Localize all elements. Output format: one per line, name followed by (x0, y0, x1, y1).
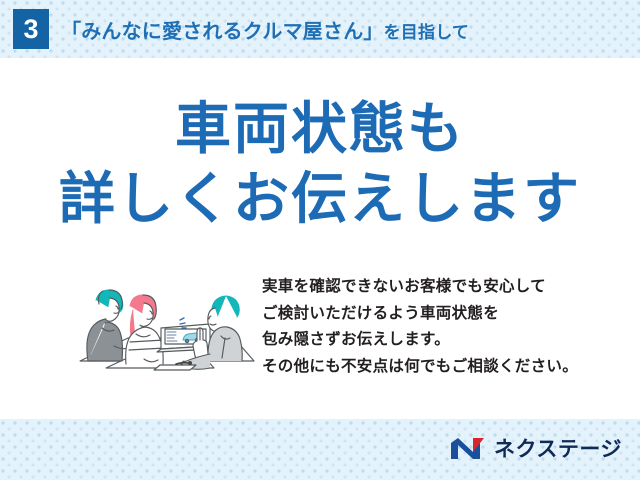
consultation-illustration (58, 266, 258, 384)
slide-header: 3 「みんなに愛されるクルマ屋さん」を目指して (0, 0, 640, 58)
slide-root: 3 「みんなに愛されるクルマ屋さん」を目指して 車両状態も 詳しくお伝えします (0, 0, 640, 480)
nexstage-logo: ネクステージ (449, 433, 622, 463)
headline-line-1: 車両状態も (0, 96, 640, 162)
headline-line-2: 詳しくお伝えします (0, 166, 640, 232)
content-panel: 車両状態も 詳しくお伝えします (0, 58, 640, 419)
consultation-illustration-svg (58, 266, 258, 384)
logo-text: ネクステージ (494, 433, 622, 463)
nexstage-n-mark-icon (449, 435, 487, 462)
body-line-1: 実車を確認できないお客様でも安心して (262, 274, 578, 301)
body-line-4: その他にも不安点は何でもご相談ください。 (262, 354, 578, 381)
section-number-badge: 3 (13, 9, 49, 49)
body-line-3: 包み隠さずお伝えします。 (262, 327, 578, 354)
customer-woman (126, 295, 165, 364)
customer-man (87, 290, 128, 361)
page-title: 「みんなに愛されるクルマ屋さん」を目指して (61, 15, 469, 44)
slide-footer: ネクステージ (0, 419, 640, 480)
body-line-2: ご検討いただけるよう車両状態を (262, 301, 578, 328)
page-title-main: 「みんなに愛されるクルマ屋さん」 (61, 21, 384, 43)
lower-section: 実車を確認できないお客様でも安心して ご検討いただけるよう車両状態を 包み隠さず… (0, 266, 640, 416)
body-text: 実車を確認できないお客様でも安心して ご検討いただけるよう車両状態を 包み隠さず… (262, 274, 578, 381)
headline: 車両状態も 詳しくお伝えします (0, 96, 640, 232)
page-title-suffix: を目指して (384, 23, 470, 42)
